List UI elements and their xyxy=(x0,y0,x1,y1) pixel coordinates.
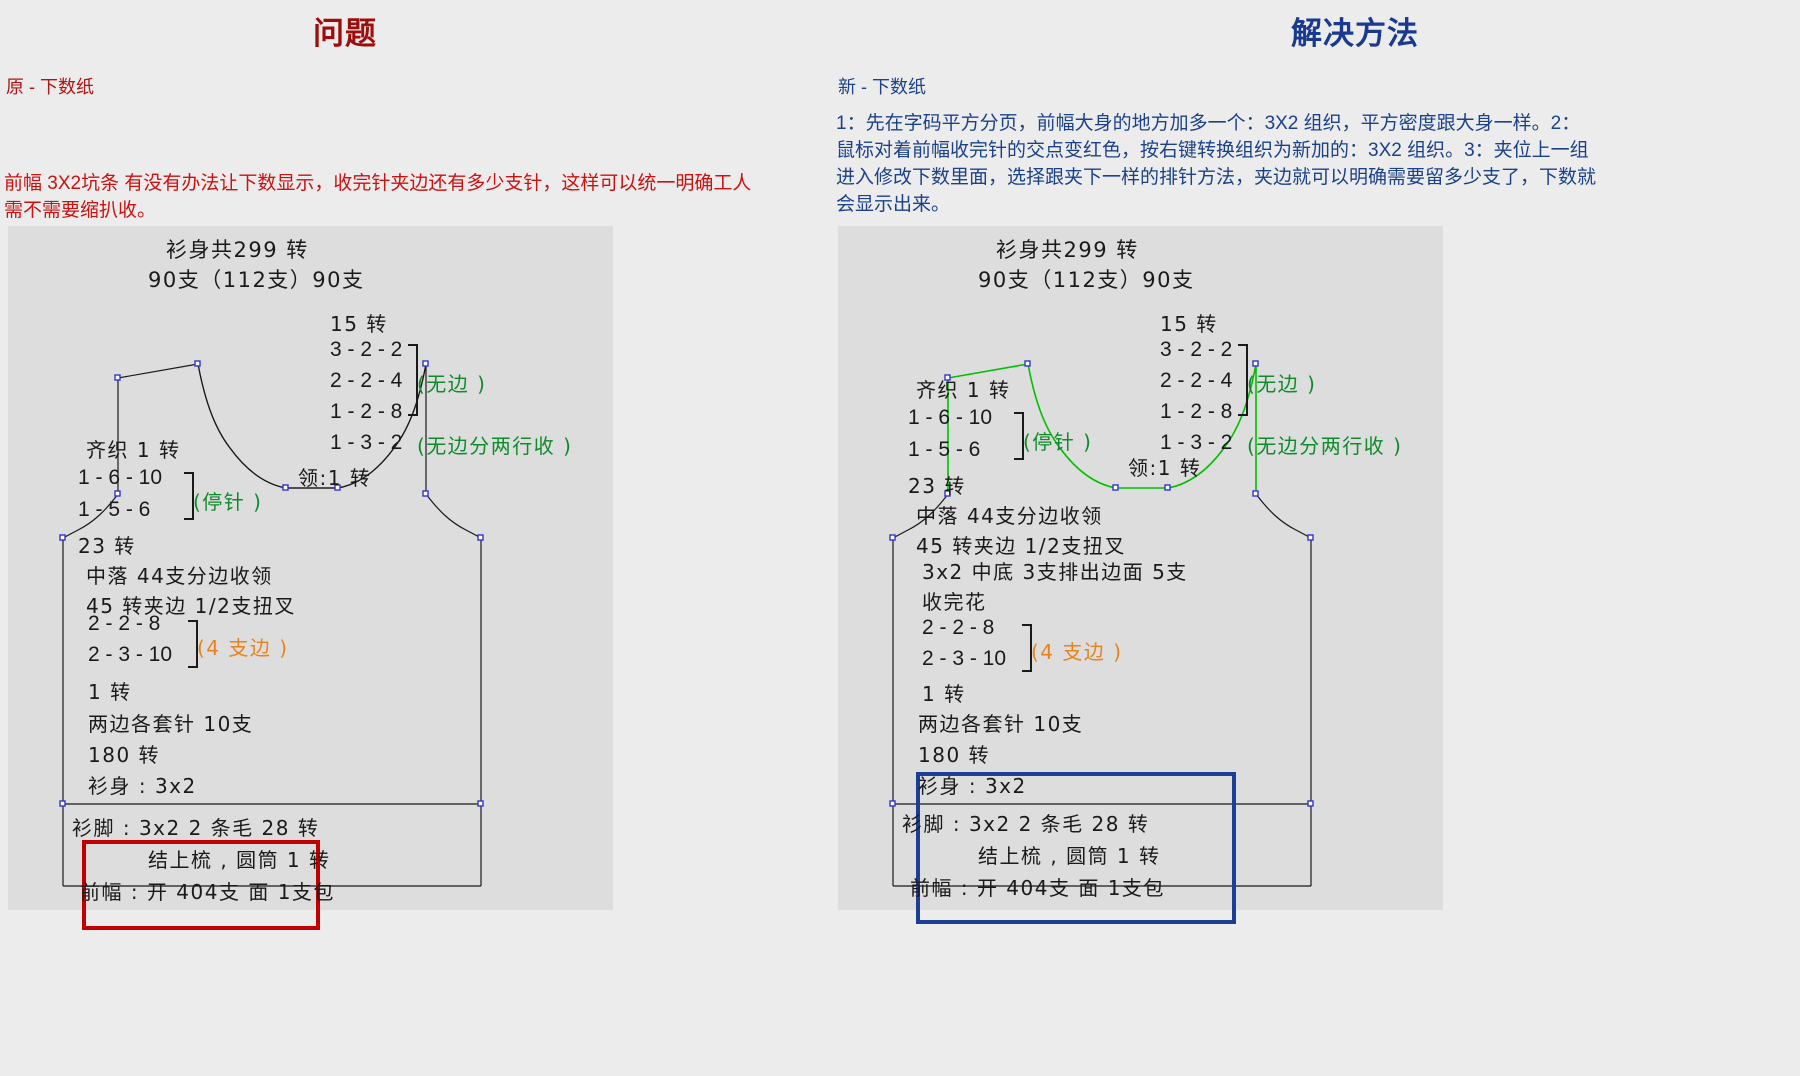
stop-needle-row-1: 1 - 6 - 10 xyxy=(908,406,992,430)
mid-drop-label: 中落 44支分边收领 xyxy=(86,560,273,589)
hem-label: 衫脚 : 3x2 2 条毛 28 转 xyxy=(902,808,1149,837)
body-structure-label: 衫身 : 3x2 xyxy=(88,770,197,799)
decrease-row-2: 2 - 2 - 4 xyxy=(1160,369,1232,393)
note-no-edge: (无边 ) xyxy=(1247,368,1316,397)
armhole-label: 45 转夹边 1/2支扭叉 xyxy=(916,530,1126,559)
cast-on-both-sides-label: 两边各套针 10支 xyxy=(88,708,253,737)
even-knit-label: 齐织 1 转 xyxy=(916,374,1010,403)
subtitle-original-sheet: 原 - 下数纸 xyxy=(6,73,94,99)
collar-turns-label: 领:1 转 xyxy=(298,462,371,491)
shoulder-turns-label: 15 转 xyxy=(1160,308,1218,337)
total-turns-label: 衫身共299 转 xyxy=(996,234,1139,264)
knitting-sheet-original: 衫身共299 转 90支（112支）90支 15 转 3 - 2 - 2 2 -… xyxy=(8,226,613,910)
note-stop-needle: (停针 ) xyxy=(193,486,262,515)
knitting-sheet-new: 衫身共299 转 90支（112支）90支 15 转 3 - 2 - 2 2 -… xyxy=(838,226,1443,910)
decrease-row-2: 2 - 2 - 4 xyxy=(330,369,402,393)
even-knit-label: 齐织 1 转 xyxy=(86,434,180,463)
decrease-row-3: 1 - 2 - 8 xyxy=(1160,400,1232,424)
stitch-count-label: 90支（112支）90支 xyxy=(978,264,1195,294)
stop-needle-row-1: 1 - 6 - 10 xyxy=(78,466,162,490)
armhole-decrease-row-2: 2 - 3 - 10 xyxy=(88,643,172,667)
stop-needle-row-2: 1 - 5 - 6 xyxy=(908,438,980,462)
finish-pattern-line: 收完花 xyxy=(922,586,987,615)
page-title-problem: 问题 xyxy=(0,8,760,53)
turns-180-label: 180 转 xyxy=(918,739,990,768)
stop-needle-row-2: 1 - 5 - 6 xyxy=(78,498,150,522)
turns-23-label: 23 转 xyxy=(908,470,966,499)
armhole-decrease-row-1: 2 - 2 - 8 xyxy=(88,612,160,636)
solution-description: 1：先在字码平方分页，前幅大身的地方加多一个：3X2 组织，平方密度跟大身一样。… xyxy=(836,110,1596,218)
note-4-stitch-edge: (4 支边 ) xyxy=(197,632,289,661)
total-turns-label: 衫身共299 转 xyxy=(166,234,309,264)
comb-label: 结上梳 , 圆筒 1 转 xyxy=(148,844,331,873)
decrease-row-4: 1 - 3 - 2 xyxy=(330,431,402,455)
shoulder-turns-label: 15 转 xyxy=(330,308,388,337)
note-no-edge: (无边 ) xyxy=(417,368,486,397)
decrease-row-1: 3 - 2 - 2 xyxy=(1160,338,1232,362)
one-turn-label: 1 转 xyxy=(922,678,966,707)
armhole-decrease-row-2: 2 - 3 - 10 xyxy=(922,647,1006,671)
subtitle-new-sheet: 新 - 下数纸 xyxy=(838,73,926,99)
turns-23-label: 23 转 xyxy=(78,530,136,559)
body-structure-label: 衫身 : 3x2 xyxy=(918,770,1027,799)
cast-on-both-sides-label: 两边各套针 10支 xyxy=(918,708,1083,737)
one-turn-label: 1 转 xyxy=(88,676,132,705)
collar-turns-label: 领:1 转 xyxy=(1128,452,1201,481)
note-no-edge-two-rows: (无边分两行收 ) xyxy=(417,430,572,459)
page-title-solution: 解决方法 xyxy=(870,8,1800,53)
decrease-row-1: 3 - 2 - 2 xyxy=(330,338,402,362)
note-4-stitch-edge: (4 支边 ) xyxy=(1031,636,1123,665)
solution-panel: 解决方法 新 - 下数纸 1：先在字码平方分页，前幅大身的地方加多一个：3X2 … xyxy=(830,0,1800,1076)
problem-panel: 问题 原 - 下数纸 前幅 3X2坑条 有没有办法让下数显示，收完针夹边还有多少… xyxy=(0,0,830,1076)
structure-detail-line: 3x2 中底 3支排出边面 5支 xyxy=(922,556,1188,585)
front-panel-label: 前幅 : 开 404支 面 1支包 xyxy=(80,876,335,905)
note-stop-needle: (停针 ) xyxy=(1023,426,1092,455)
armhole-decrease-row-1: 2 - 2 - 8 xyxy=(922,616,994,640)
problem-description: 前幅 3X2坑条 有没有办法让下数显示，收完针夹边还有多少支针，这样可以统一明确… xyxy=(4,170,764,224)
turns-180-label: 180 转 xyxy=(88,739,160,768)
decrease-row-3: 1 - 2 - 8 xyxy=(330,400,402,424)
front-panel-label: 前幅 : 开 404支 面 1支包 xyxy=(910,872,1165,901)
note-no-edge-two-rows: (无边分两行收 ) xyxy=(1247,430,1402,459)
mid-drop-label: 中落 44支分边收领 xyxy=(916,500,1103,529)
comb-label: 结上梳 , 圆筒 1 转 xyxy=(978,840,1161,869)
stitch-count-label: 90支（112支）90支 xyxy=(148,264,365,294)
hem-label: 衫脚 : 3x2 2 条毛 28 转 xyxy=(72,812,319,841)
